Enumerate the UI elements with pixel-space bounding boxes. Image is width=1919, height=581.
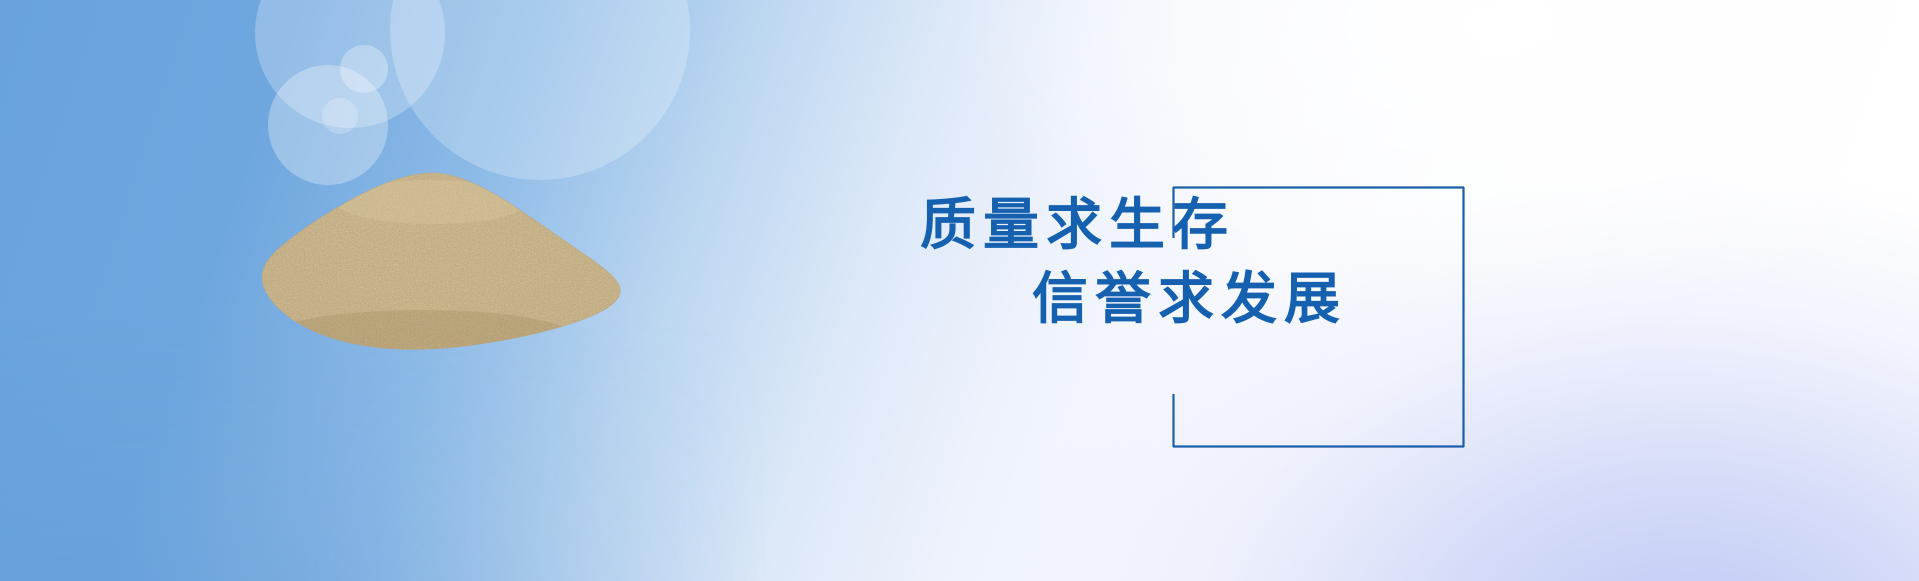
headline-block: 质量求生存 信誉求发展: [920, 188, 1480, 336]
headline-line-2: 信誉求发展: [1032, 262, 1480, 336]
bubble-bottom-soft: [322, 98, 358, 134]
quartz-sand-pile-image: [246, 168, 628, 364]
headline-line-1: 质量求生存: [920, 188, 1480, 262]
promo-banner: 质量求生存 信誉求发展: [0, 0, 1919, 581]
